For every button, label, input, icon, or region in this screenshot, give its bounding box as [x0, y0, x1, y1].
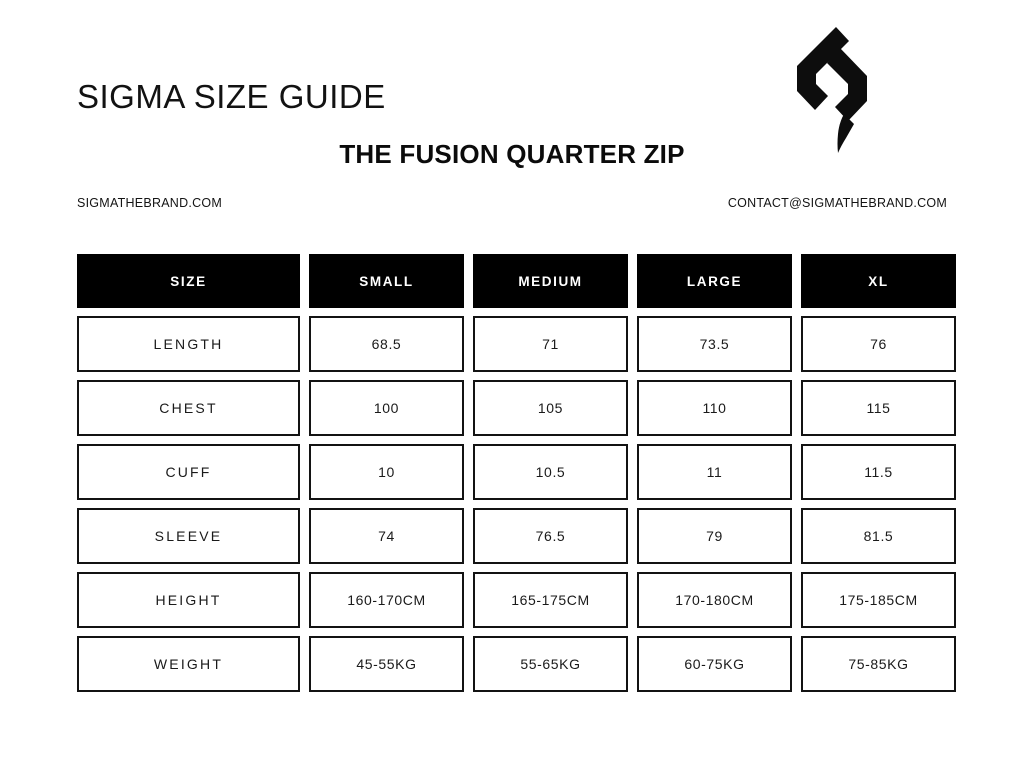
page-title: SIGMA SIZE GUIDE [77, 78, 386, 116]
table-row: CHEST 100 105 110 115 [77, 380, 947, 436]
cell-value: 81.5 [801, 508, 956, 564]
cell-value: 74 [309, 508, 464, 564]
cell-value: 71 [473, 316, 628, 372]
column-header-medium: MEDIUM [473, 254, 628, 308]
column-header-size: SIZE [77, 254, 300, 308]
table-row: LENGTH 68.5 71 73.5 76 [77, 316, 947, 372]
row-label: HEIGHT [77, 572, 300, 628]
cell-value: 45-55KG [309, 636, 464, 692]
column-header-xl: XL [801, 254, 956, 308]
column-header-large: LARGE [637, 254, 792, 308]
cell-value: 10 [309, 444, 464, 500]
cell-value: 68.5 [309, 316, 464, 372]
table-row: HEIGHT 160-170CM 165-175CM 170-180CM 175… [77, 572, 947, 628]
cell-value: 170-180CM [637, 572, 792, 628]
table-header-row: SIZE SMALL MEDIUM LARGE XL [77, 254, 947, 308]
cell-value: 73.5 [637, 316, 792, 372]
cell-value: 11.5 [801, 444, 956, 500]
row-label: CHEST [77, 380, 300, 436]
cell-value: 11 [637, 444, 792, 500]
column-header-small: SMALL [309, 254, 464, 308]
sigma-logo [786, 22, 878, 154]
cell-value: 115 [801, 380, 956, 436]
contact-row: SIGMATHEBRAND.COM CONTACT@SIGMATHEBRAND.… [77, 196, 947, 214]
cell-value: 55-65KG [473, 636, 628, 692]
cell-value: 10.5 [473, 444, 628, 500]
cell-value: 105 [473, 380, 628, 436]
website-url[interactable]: SIGMATHEBRAND.COM [77, 196, 222, 210]
cell-value: 75-85KG [801, 636, 956, 692]
cell-value: 60-75KG [637, 636, 792, 692]
cell-value: 110 [637, 380, 792, 436]
row-label: CUFF [77, 444, 300, 500]
cell-value: 76.5 [473, 508, 628, 564]
table-row: CUFF 10 10.5 11 11.5 [77, 444, 947, 500]
contact-email[interactable]: CONTACT@SIGMATHEBRAND.COM [728, 196, 947, 210]
table-row: WEIGHT 45-55KG 55-65KG 60-75KG 75-85KG [77, 636, 947, 692]
table-row: SLEEVE 74 76.5 79 81.5 [77, 508, 947, 564]
size-chart-table: SIZE SMALL MEDIUM LARGE XL LENGTH 68.5 7… [77, 254, 947, 692]
row-label: WEIGHT [77, 636, 300, 692]
row-label: LENGTH [77, 316, 300, 372]
cell-value: 76 [801, 316, 956, 372]
cell-value: 175-185CM [801, 572, 956, 628]
cell-value: 160-170CM [309, 572, 464, 628]
page-header: SIGMA SIZE GUIDE THE FUSION QUARTER ZIP … [0, 0, 1024, 240]
cell-value: 165-175CM [473, 572, 628, 628]
cell-value: 100 [309, 380, 464, 436]
size-guide-page: SIGMA SIZE GUIDE THE FUSION QUARTER ZIP … [0, 0, 1024, 768]
row-label: SLEEVE [77, 508, 300, 564]
cell-value: 79 [637, 508, 792, 564]
